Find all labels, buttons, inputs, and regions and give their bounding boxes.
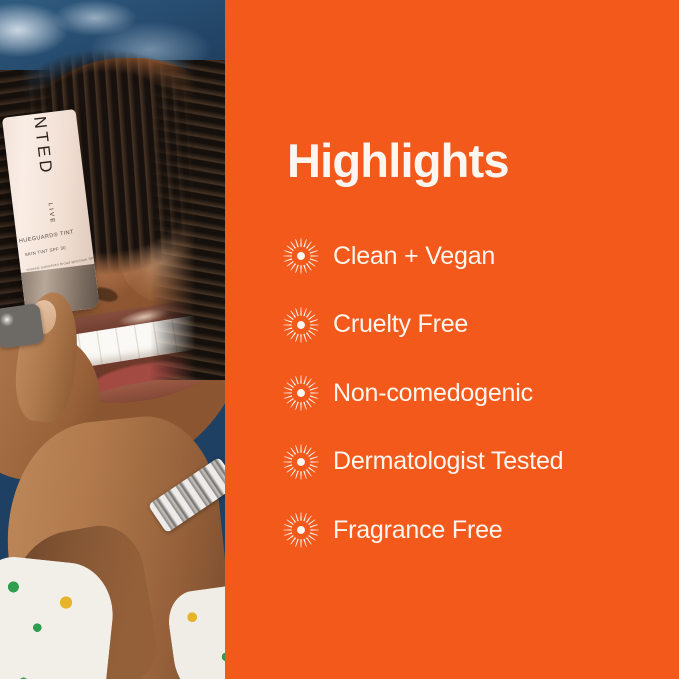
- silver-ring: [0, 303, 45, 349]
- highlight-item: Non-comedogenic: [283, 359, 673, 428]
- highlight-item: Cruelty Free: [283, 291, 673, 360]
- highlight-item-label: Clean + Vegan: [333, 243, 495, 271]
- highlight-item: Dermatologist Tested: [283, 428, 673, 497]
- product-spf-text: SKIN TINT SPF 30: [24, 245, 66, 257]
- product-highlights-banner: TNTED LIVE HUEGUARD® TINT SKIN TINT SPF …: [0, 0, 679, 679]
- page-title: Highlights: [287, 137, 509, 184]
- sunburst-icon: [283, 375, 319, 411]
- product-brand-mark: TNTED: [27, 109, 56, 177]
- product-hero-photo: TNTED LIVE HUEGUARD® TINT SKIN TINT SPF …: [0, 0, 225, 679]
- highlight-item-label: Fragrance Free: [333, 517, 503, 545]
- sunburst-icon: [283, 512, 319, 548]
- braided-hair-right: [150, 60, 225, 380]
- highlights-panel: Highlights Clean + VeganCruelty FreeNon-…: [225, 0, 679, 679]
- highlight-item: Clean + Vegan: [283, 222, 673, 291]
- product-brand-sub: LIVE: [47, 203, 56, 225]
- highlight-item-label: Cruelty Free: [333, 311, 468, 339]
- sunburst-icon: [283, 444, 319, 480]
- highlight-item: Fragrance Free: [283, 496, 673, 565]
- sunburst-icon: [283, 238, 319, 274]
- product-name-text: HUEGUARD® TINT: [19, 229, 75, 245]
- highlight-item-label: Non-comedogenic: [333, 380, 533, 408]
- sunburst-icon: [283, 307, 319, 343]
- highlights-list: Clean + VeganCruelty FreeNon-comedogenic…: [283, 222, 673, 565]
- highlight-item-label: Dermatologist Tested: [333, 448, 563, 476]
